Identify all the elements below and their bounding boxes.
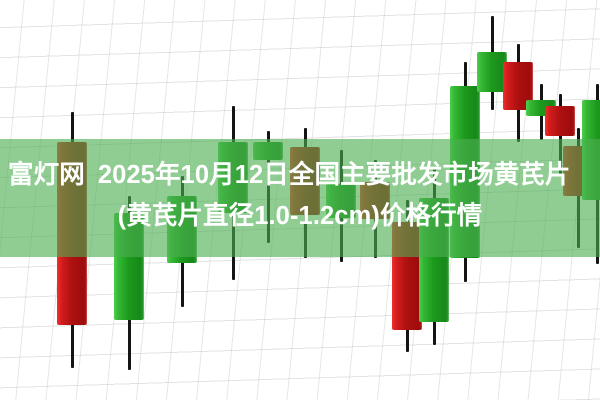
screenshot-canvas: 富灯网2025年10月12日全国主要批发市场黄芪片 (黄芪片直径1.0-1.2c…: [0, 0, 600, 400]
headline-line: 富灯网2025年10月12日全国主要批发市场黄芪片: [0, 155, 600, 195]
brand-label: 富灯网: [8, 161, 85, 189]
headline-text: 2025年10月12日全国主要批发市场黄芪片: [98, 161, 571, 189]
subline-text: (黄芪片直径1.0-1.2cm)价格行情: [0, 196, 600, 236]
